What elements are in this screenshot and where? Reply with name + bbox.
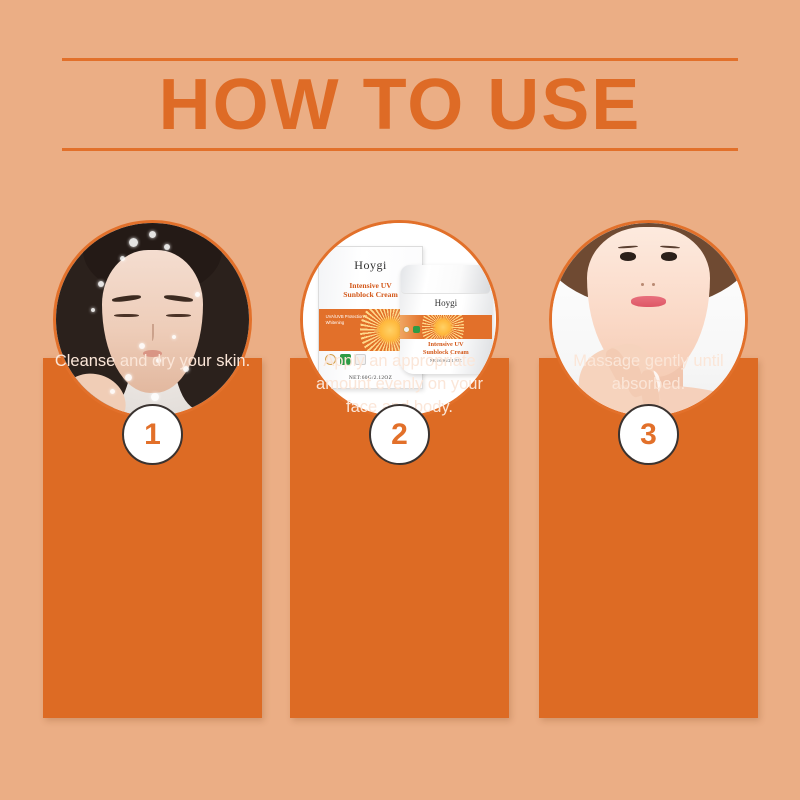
product-jar-name-line1: Intensive UV <box>400 341 493 349</box>
steps-container: 1 Cleanse and dry your skin. Hoygi Inten… <box>0 190 800 730</box>
product-jar-brand: Hoygi <box>400 298 493 308</box>
step-number-badge-2: 2 <box>369 404 430 465</box>
step-number-badge-3: 3 <box>618 404 679 465</box>
page-header: HOW TO USE <box>0 0 800 180</box>
step-card-2: Hoygi Intensive UV Sunblock Cream UVA/UV… <box>290 190 509 718</box>
step-card-1: 1 Cleanse and dry your skin. <box>43 190 262 718</box>
step-caption-1: Cleanse and dry your skin. <box>53 350 252 373</box>
step-caption-3: Massage gently until absorbed. <box>549 350 748 396</box>
step-card-3: 3 Massage gently until absorbed. <box>539 190 758 718</box>
product-jar-lid <box>401 265 490 293</box>
page-title: HOW TO USE <box>0 62 800 148</box>
certification-badge-icon <box>413 326 420 333</box>
sun-icon <box>422 315 465 339</box>
step-number-badge-1: 1 <box>122 404 183 465</box>
jar-certifications <box>403 326 420 333</box>
certification-badge-icon <box>403 326 410 333</box>
title-rule-bottom <box>62 148 738 151</box>
product-jar-band <box>400 315 493 339</box>
woman-washing-face-photo <box>56 223 249 416</box>
title-rule-top <box>62 58 738 61</box>
step-image-circle-1 <box>53 220 252 419</box>
